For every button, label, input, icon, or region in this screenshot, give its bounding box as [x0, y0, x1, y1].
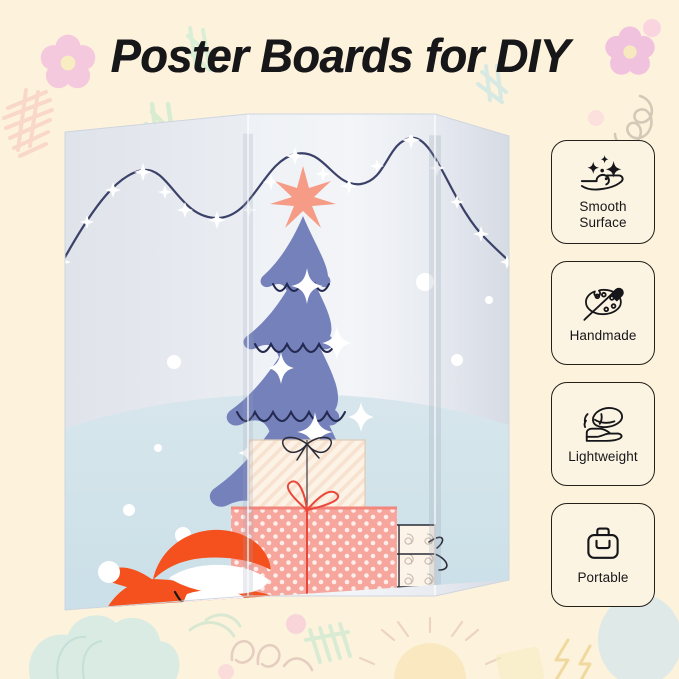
santa-eyes — [209, 606, 245, 610]
page-title-bar: Poster Boards for DIY — [0, 0, 679, 110]
sparkle-hand-icon — [577, 153, 629, 193]
badge-label-line-1: Smooth — [579, 199, 626, 215]
feather-hand-icon — [577, 403, 629, 443]
santa-face — [183, 590, 246, 622]
badge-label-line-2: Surface — [579, 215, 626, 231]
pink-dot-right-2 — [588, 110, 604, 126]
badge-lightweight[interactable]: Lightweight — [551, 382, 655, 486]
page-title: Poster Boards for DIY — [110, 28, 569, 83]
badge-portable-label: Portable — [577, 570, 628, 586]
paint-palette-icon — [577, 282, 629, 322]
loop-doodle-bottom — [232, 641, 312, 670]
santa-cheek — [199, 616, 211, 622]
product-infographic: Poster Boards for DIY — [0, 0, 679, 679]
santa-beard — [176, 601, 257, 622]
feature-badge-list: Smooth Surface Handmade — [551, 140, 659, 607]
badge-label-line-1: Handmade — [570, 328, 637, 344]
lightning-doodle-bottom-right — [556, 640, 590, 679]
santa-hat-pompom — [98, 561, 120, 583]
badge-smooth-surface-label: Smooth Surface — [579, 199, 626, 231]
badge-handmade-label: Handmade — [570, 328, 637, 344]
card-doodle-bottom-right — [495, 646, 545, 679]
cloud-doodle-bottom-left — [29, 615, 179, 679]
cloud-doodle-stroke — [57, 637, 102, 679]
poster-board-image — [57, 110, 535, 622]
sun-doodle-bottom — [360, 618, 500, 679]
badge-handmade[interactable]: Handmade — [551, 261, 655, 365]
badge-label-line-1: Lightweight — [568, 449, 637, 465]
badge-lightweight-label: Lightweight — [568, 449, 637, 465]
badge-label-line-1: Portable — [577, 570, 628, 586]
badge-smooth-surface[interactable]: Smooth Surface — [551, 140, 655, 244]
santa-nose — [225, 614, 241, 622]
briefcase-icon — [577, 524, 629, 564]
gift-box-striped — [249, 437, 365, 514]
badge-portable[interactable]: Portable — [551, 503, 655, 607]
pink-dot-bottom-2 — [218, 664, 234, 679]
green-scribble-bottom — [306, 624, 350, 662]
